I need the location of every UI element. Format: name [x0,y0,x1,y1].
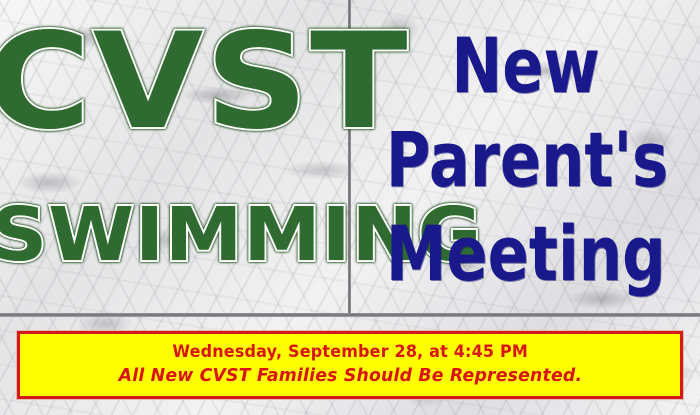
horizontal-divider [0,313,700,317]
headline-line-2: Parent's [386,122,665,198]
poster-flyer: CVST SWIMMING New Parent's Meeting Wedne… [0,0,700,415]
team-sport-text: SWIMMING [0,198,357,272]
headline-panel: New Parent's Meeting [351,0,700,313]
team-abbreviation-text: CVST [0,16,362,148]
event-date-time-text: Wednesday, September 28, at 4:45 PM [172,344,528,362]
headline-line-3: Meeting [386,216,665,292]
team-logo-panel: CVST SWIMMING [0,0,348,313]
event-details-banner: Wednesday, September 28, at 4:45 PM All … [17,331,683,399]
headline-line-1: New [386,28,665,104]
event-attendance-text: All New CVST Families Should Be Represen… [118,367,582,386]
